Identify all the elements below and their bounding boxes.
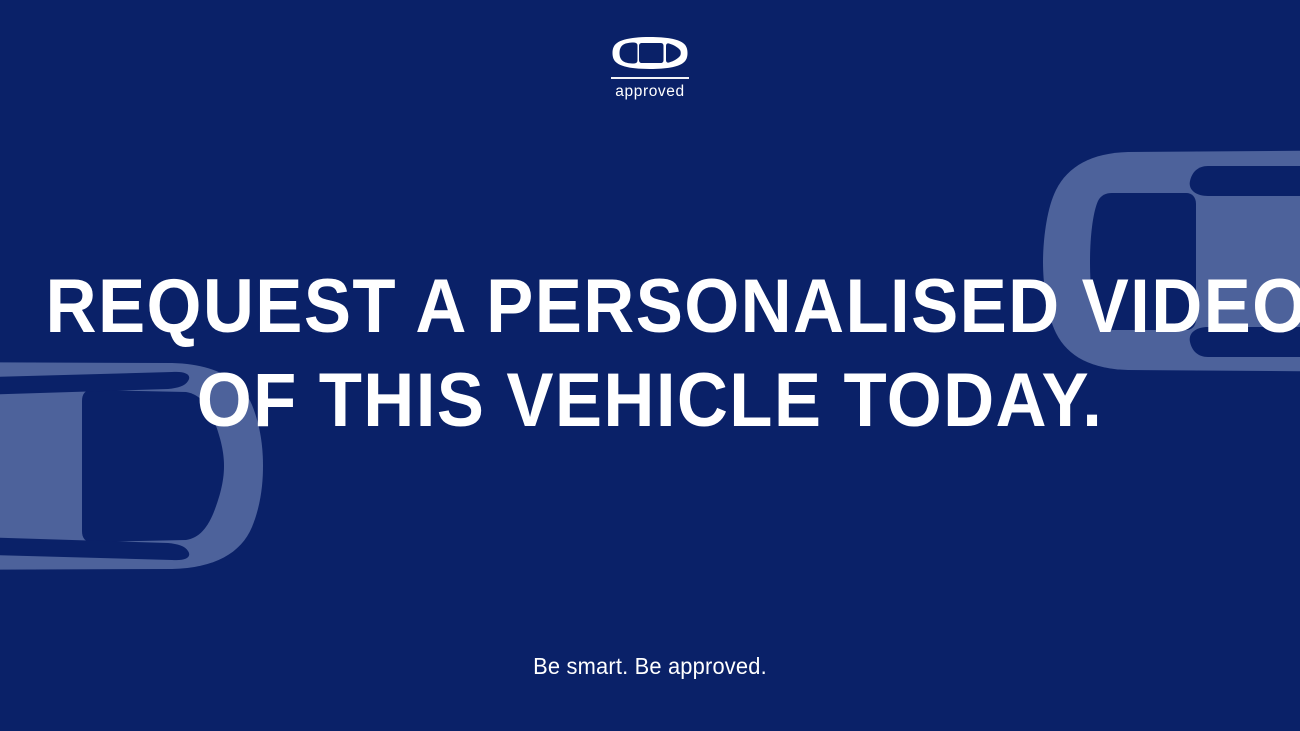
- logo-wordmark: approved: [615, 83, 684, 100]
- promo-banner: approved REQUEST A PERSONALISED VIDEO OF…: [0, 0, 1300, 731]
- tagline: Be smart. Be approved.: [33, 653, 1268, 680]
- logo-divider-rule: [611, 77, 689, 79]
- headline-line-1: REQUEST A PERSONALISED VIDEO: [46, 270, 1255, 344]
- headline-block: REQUEST A PERSONALISED VIDEO OF THIS VEH…: [0, 270, 1300, 439]
- headline-line-2: OF THIS VEHICLE TODAY.: [46, 364, 1255, 438]
- car-top-view-icon: [612, 36, 688, 70]
- brand-logo-lockup: approved: [0, 36, 1300, 100]
